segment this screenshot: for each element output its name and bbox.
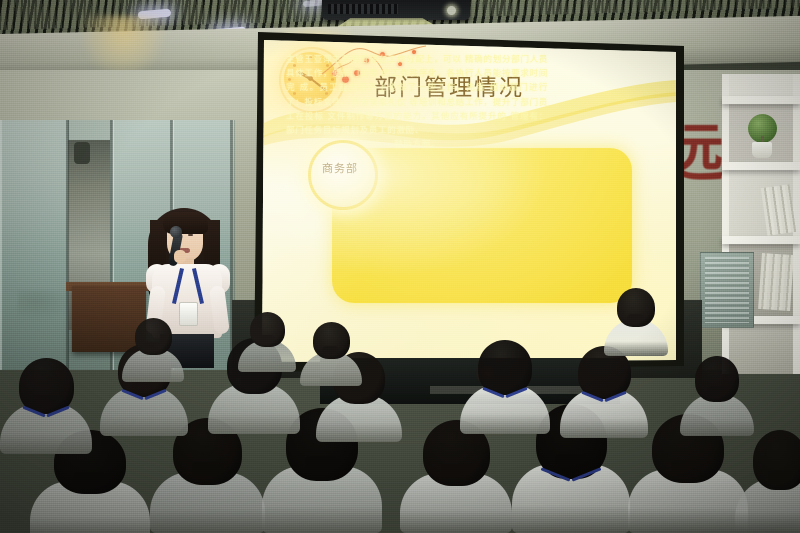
audience-head: [695, 356, 739, 402]
shelf-board: [722, 236, 800, 244]
audience-member: [300, 322, 362, 386]
audience-member: [400, 420, 512, 533]
audience-member: [680, 356, 754, 436]
slide-body-text: 主管王亚萍主要的管理在工作分配上，可以 精确的划分部门人员具体工作，使部门现有 …: [286, 53, 548, 152]
audience-head: [313, 322, 350, 359]
presenter-hand: [174, 250, 186, 263]
audience-member: [604, 288, 668, 356]
audience-head: [135, 318, 172, 355]
audience-member: [238, 312, 296, 372]
glass-pane: [0, 120, 69, 370]
audience-head: [250, 312, 285, 347]
shelf-books: [758, 253, 794, 311]
presenter-eye: [188, 234, 193, 236]
cabinet-louvers: [705, 257, 749, 323]
audience-head: [753, 430, 800, 490]
audience-head: [617, 288, 655, 327]
projector-vent: [328, 4, 398, 14]
presentation-photo: 远: [0, 0, 800, 533]
body-line: 文件制作等方面的能力。其他应有所提升的: [327, 112, 506, 122]
projector-lens: [447, 6, 456, 15]
window-mullion: [66, 120, 69, 370]
meeting-room: 远: [0, 0, 800, 533]
audience-member: [735, 430, 800, 533]
side-cabinet: [700, 252, 754, 328]
body-line: 成。员工能力培养上也做了一些工作，先后: [300, 83, 486, 93]
slide-department-badge-label: 商务部: [308, 160, 372, 176]
audience-member: [460, 340, 550, 434]
door-handle: [74, 142, 90, 164]
projector-icon: [322, 0, 470, 20]
microphone-head: [170, 226, 182, 238]
audience-member: [0, 358, 92, 454]
shelf-upright: [722, 74, 729, 374]
shelf-board: [722, 96, 800, 104]
shelf-board: [722, 162, 800, 170]
audience-member: [122, 318, 184, 382]
audience-member: [560, 346, 648, 438]
body-line: 主管王亚萍主要的管理在工作分配上，可以: [286, 55, 462, 65]
plant-pot: [752, 142, 772, 158]
